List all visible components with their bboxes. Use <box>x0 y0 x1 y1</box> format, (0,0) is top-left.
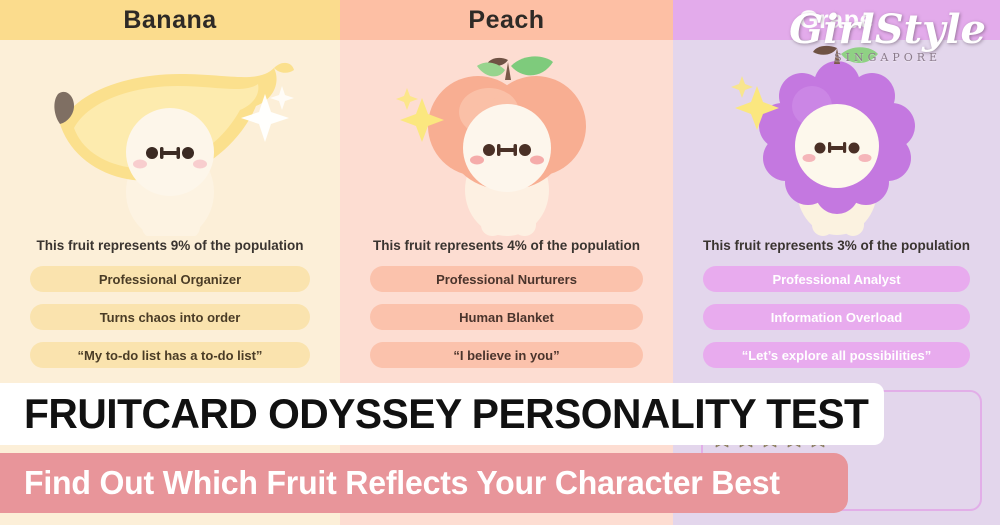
trait-pill-list-grape: Professional Analyst Information Overloa… <box>703 266 970 380</box>
trait-pill-list-peach: Professional Nurturers Human Blanket “I … <box>370 266 643 380</box>
peach-mascot-illustration <box>340 40 673 236</box>
column-header-banana: Banana <box>0 0 340 40</box>
trait-pill[interactable]: “Let’s explore all possibilities” <box>703 342 970 368</box>
column-header-grape: Grape <box>673 0 1000 40</box>
trait-pill[interactable]: Human Blanket <box>370 304 643 330</box>
trait-pill[interactable]: Professional Organizer <box>30 266 310 292</box>
column-title-grape: Grape <box>799 6 874 35</box>
trait-pill[interactable]: “I believe in you” <box>370 342 643 368</box>
subheadline-text: Find Out Which Fruit Reflects Your Chara… <box>24 464 780 502</box>
trait-pill[interactable]: Professional Nurturers <box>370 266 643 292</box>
trait-pill[interactable]: Professional Analyst <box>703 266 970 292</box>
column-header-peach: Peach <box>340 0 673 40</box>
fruit-column-peach: Peach <box>340 0 673 525</box>
population-text-peach: This fruit represents 4% of the populati… <box>340 238 673 253</box>
trait-pill[interactable]: Turns chaos into order <box>30 304 310 330</box>
column-title-peach: Peach <box>468 6 544 35</box>
trait-pill[interactable]: Information Overload <box>703 304 970 330</box>
population-text-grape: This fruit represents 3% of the populati… <box>673 238 1000 253</box>
headline-banner: FRUITCARD ODYSSEY PERSONALITY TEST <box>0 383 884 445</box>
column-title-banana: Banana <box>123 6 216 35</box>
fruit-column-banana: Banana <box>0 0 340 525</box>
subheadline-banner: Find Out Which Fruit Reflects Your Chara… <box>0 453 848 513</box>
infographic-canvas: Banana <box>0 0 1000 525</box>
fruit-column-grape: Grape <box>673 0 1000 525</box>
banana-mascot-svg <box>30 40 310 236</box>
headline-text: FRUITCARD ODYSSEY PERSONALITY TEST <box>24 390 868 438</box>
banana-mascot-illustration <box>0 40 340 236</box>
trait-pill[interactable]: “My to-do list has a to-do list” <box>30 342 310 368</box>
population-text-banana: This fruit represents 9% of the populati… <box>0 238 340 253</box>
grape-mascot-illustration <box>673 40 1000 236</box>
trait-pill-list-banana: Professional Organizer Turns chaos into … <box>30 266 310 380</box>
peach-mascot-svg <box>377 40 637 236</box>
grape-mascot-svg <box>712 40 962 236</box>
